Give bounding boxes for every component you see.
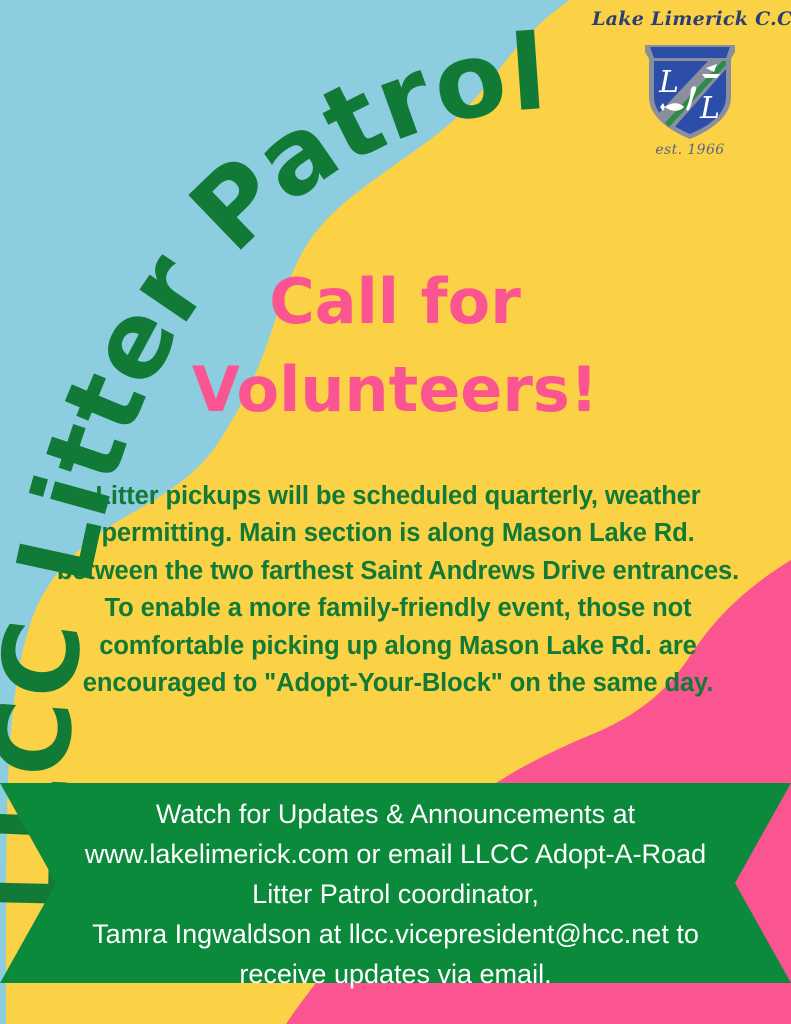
subtitle-line-2: Volunteers! xyxy=(130,346,660,434)
flyer-poster: LLCC Litter Patrol Lake Limerick C.C. L … xyxy=(0,0,791,1024)
contact-banner: Watch for Updates & Announcements at www… xyxy=(0,783,791,983)
shield-monogram-left: L xyxy=(658,65,679,100)
subtitle-line-1: Call for xyxy=(130,258,660,346)
shield-chief-bar xyxy=(650,47,730,58)
banner-line-1: Watch for Updates & Announcements at xyxy=(70,795,721,835)
logo-wordmark: Lake Limerick C.C. xyxy=(592,8,788,30)
shield-crest-icon: L L xyxy=(638,35,742,141)
banner-line-4: Tamra Ingwaldson at llcc.vicepresident@h… xyxy=(70,915,721,955)
banner-text-block: Watch for Updates & Announcements at www… xyxy=(70,795,721,971)
banner-line-3: Litter Patrol coordinator, xyxy=(70,875,721,915)
body-paragraph: Litter pickups will be scheduled quarter… xyxy=(48,478,748,703)
logo-established-text: est. 1966 xyxy=(592,142,788,158)
subtitle-block: Call for Volunteers! xyxy=(130,258,660,434)
banner-right-notch-path xyxy=(735,783,791,983)
poster-title: LLCC Litter Patrol xyxy=(0,11,551,914)
shield-svg: L L xyxy=(638,35,742,141)
banner-line-5: receive updates via email. xyxy=(70,955,721,995)
banner-line-2: www.lakelimerick.com or email LLCC Adopt… xyxy=(70,835,721,875)
shield-monogram-right: L xyxy=(699,91,720,126)
lake-limerick-logo: Lake Limerick C.C. L L xyxy=(592,8,788,170)
